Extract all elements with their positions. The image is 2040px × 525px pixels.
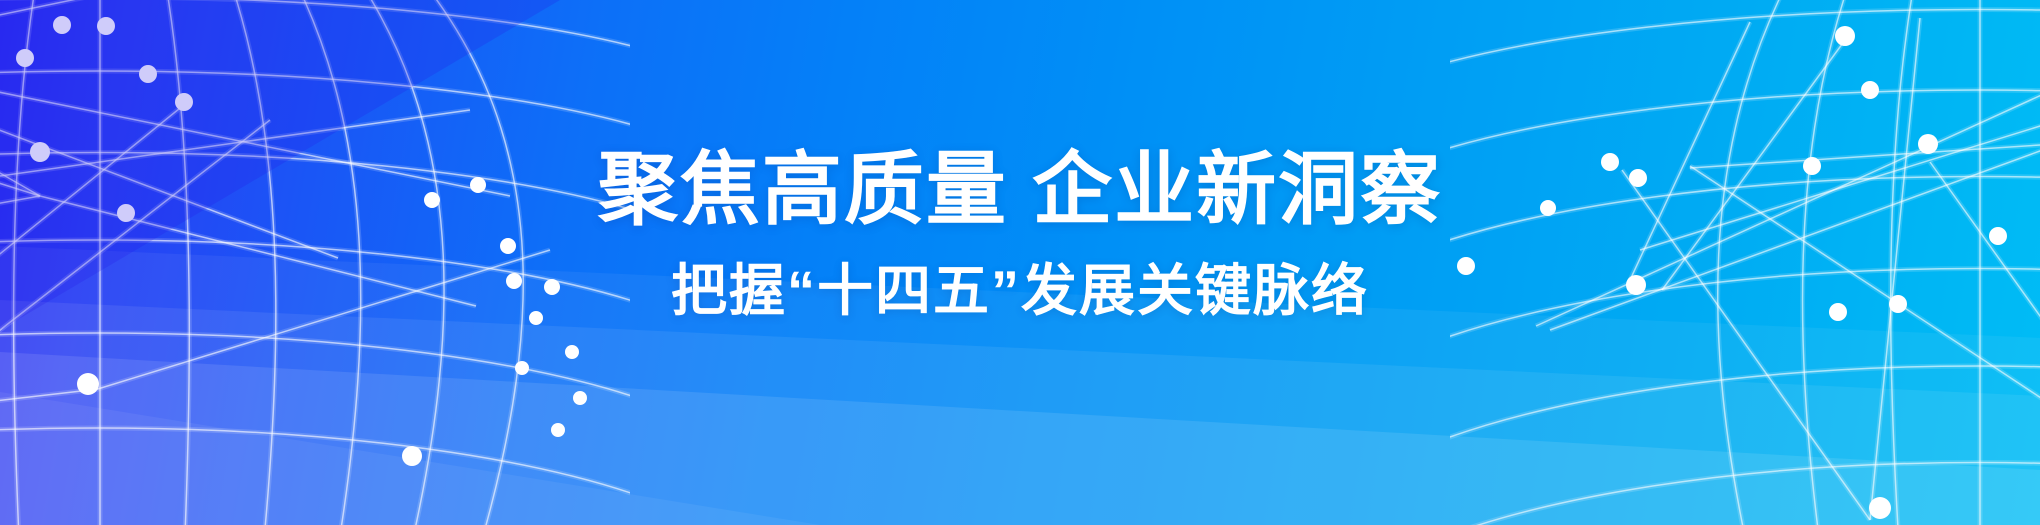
banner-text-block: 聚焦高质量 企业新洞察 把握“十四五”发展关键脉络 [0, 0, 2040, 525]
right-globe-network-graphic [1450, 0, 2040, 525]
banner-headline: 聚焦高质量 企业新洞察 [598, 150, 1442, 230]
banner-subheadline: 把握“十四五”发展关键脉络 [671, 263, 1369, 319]
right-network-nodes [1457, 11, 2040, 522]
wave-overlay-graphic [0, 0, 2040, 525]
promo-banner: 聚焦高质量 企业新洞察 把握“十四五”发展关键脉络 [0, 0, 2040, 525]
left-network-nodes [0, 1, 587, 466]
left-globe-network-graphic [0, 0, 630, 525]
